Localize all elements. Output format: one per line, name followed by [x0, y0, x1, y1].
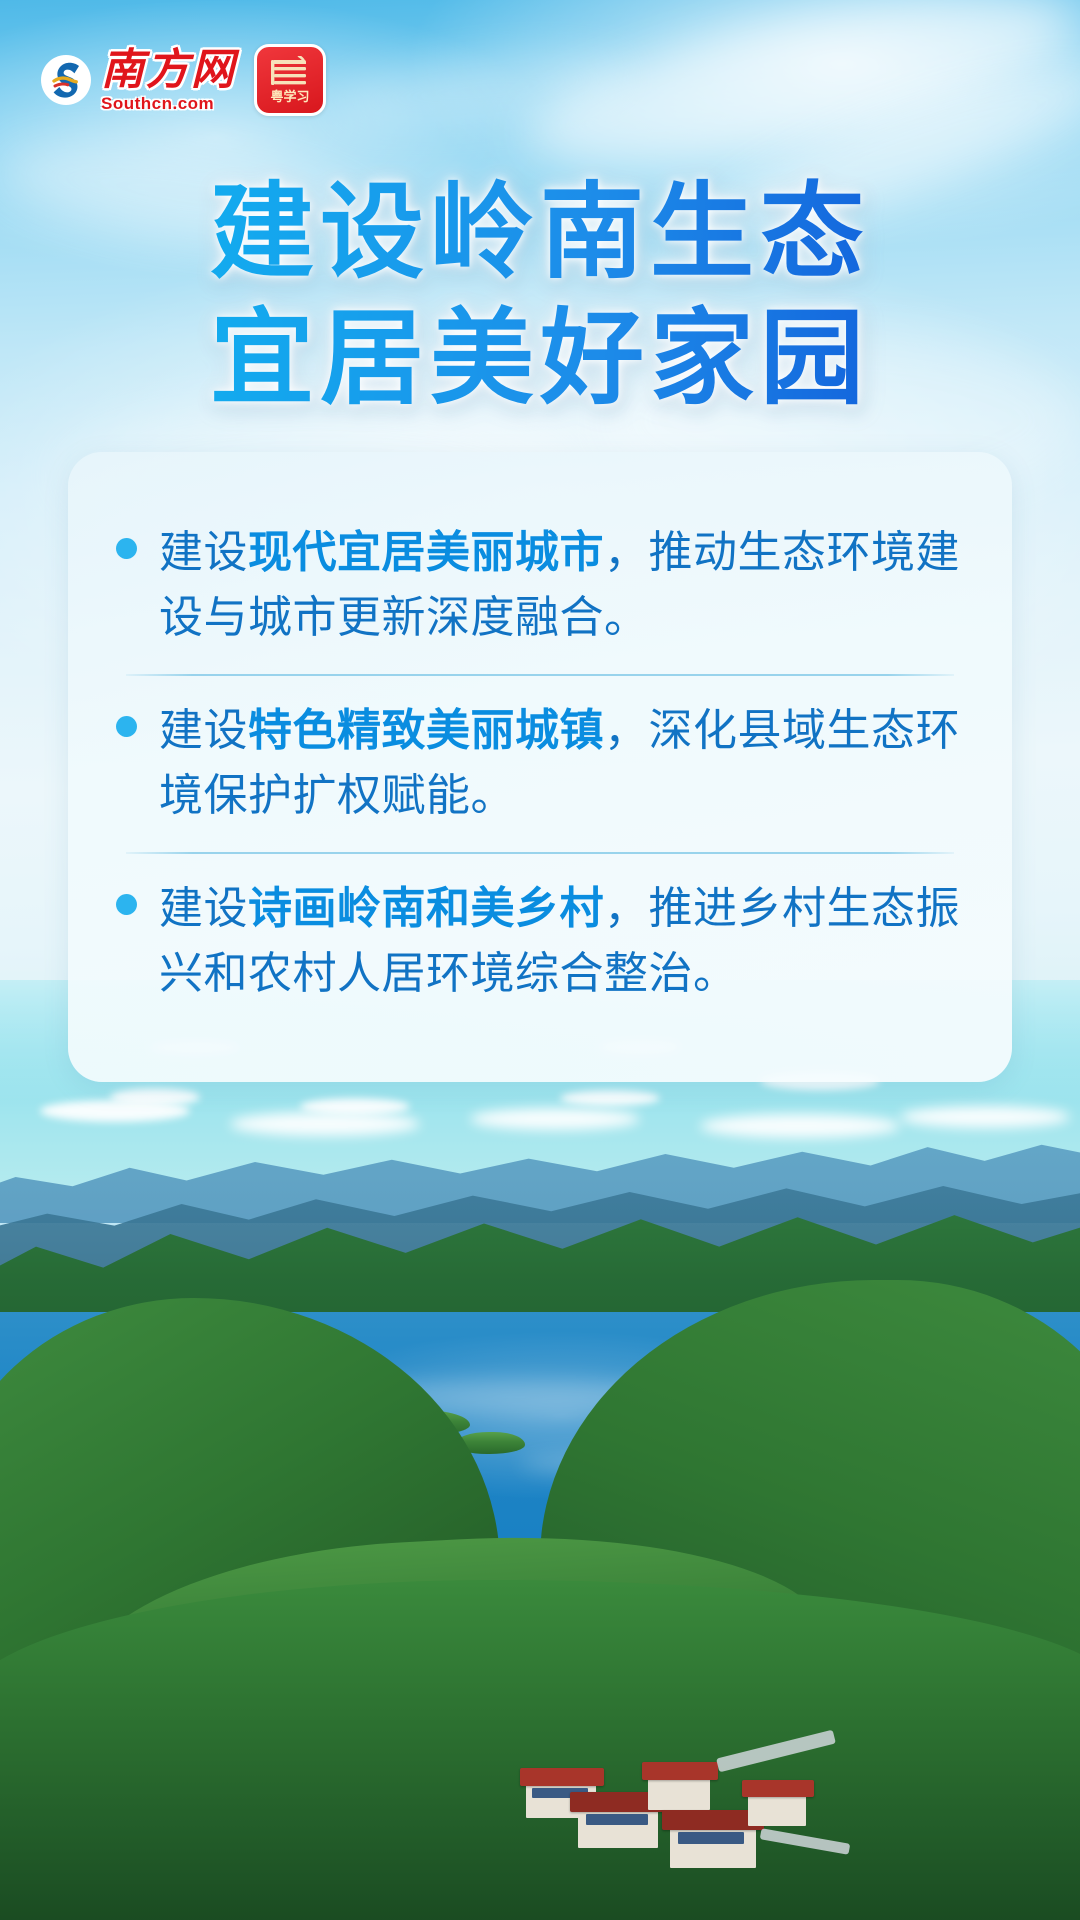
page-title: 建设岭南生态 宜居美好家园: [0, 172, 1080, 418]
item-lead: 建设: [159, 528, 248, 577]
list-item: 建设诗画岭南和美乡村，推进乡村生态振兴和农村人居环境综合整治。: [116, 858, 964, 1026]
key-points-card: 建设现代宜居美丽城市，推动生态环境建设与城市更新深度融合。 建设特色精致美丽城镇…: [68, 452, 1012, 1082]
building-wall: [748, 1794, 806, 1826]
photo-cloud: [110, 1088, 200, 1106]
photo-cloud: [230, 1112, 420, 1136]
bullet-dot-icon: [116, 894, 137, 915]
list-divider: [126, 674, 954, 676]
southcn-logo[interactable]: 南方网 Southcn.com: [38, 49, 236, 112]
bullet-dot-icon: [116, 538, 137, 559]
list-item: 建设现代宜居美丽城市，推动生态环境建设与城市更新深度融合。: [116, 502, 964, 670]
item-highlight: 现代宜居美丽城市: [248, 528, 604, 577]
village-road: [760, 1828, 851, 1854]
building-roof: [742, 1780, 814, 1797]
building-wall: [648, 1776, 710, 1810]
photo-cloud: [470, 1108, 640, 1130]
solar-panel: [678, 1832, 744, 1844]
yuexuexi-label: 粤学习: [270, 90, 309, 103]
item-lead: 建设: [159, 884, 248, 933]
southcn-name-cn: 南方网: [101, 49, 236, 92]
bullet-dot-icon: [116, 716, 137, 737]
title-line-1: 建设岭南生态: [0, 172, 1080, 292]
list-divider: [126, 852, 954, 854]
photo-cloud: [900, 1106, 1070, 1128]
item-highlight: 诗画岭南和美乡村: [248, 884, 604, 933]
photo-cloud: [300, 1098, 410, 1115]
building-roof: [520, 1768, 604, 1786]
photo-cloud: [560, 1090, 660, 1106]
southcn-wordmark: 南方网 Southcn.com: [101, 49, 236, 112]
title-line-2: 宜居美好家园: [0, 298, 1080, 418]
list-item-text: 建设现代宜居美丽城市，推动生态环境建设与城市更新深度融合。: [159, 520, 964, 650]
item-highlight: 特色精致美丽城镇: [248, 706, 604, 755]
yuexuexi-logo[interactable]: 粤学习: [254, 44, 326, 116]
logo-bar: 南方网 Southcn.com 粤学习: [38, 44, 326, 116]
list-item: 建设特色精致美丽城镇，深化县域生态环境保护扩权赋能。: [116, 680, 964, 848]
poster-root: 南方网 Southcn.com 粤学习 建设岭南生态 宜居美好家园: [0, 0, 1080, 1920]
item-lead: 建设: [159, 706, 248, 755]
photo-cloud: [700, 1114, 900, 1138]
yuexuexi-book-icon: [268, 56, 312, 88]
list-item-text: 建设诗画岭南和美乡村，推进乡村生态振兴和农村人居环境综合整治。: [159, 876, 964, 1006]
village-cluster: [520, 1740, 840, 1915]
solar-panel: [586, 1814, 648, 1825]
list-item-text: 建设特色精致美丽城镇，深化县域生态环境保护扩权赋能。: [159, 698, 964, 828]
southcn-s-mark-icon: [38, 52, 94, 108]
building-roof: [642, 1762, 718, 1780]
southcn-name-en: Southcn.com: [101, 95, 214, 112]
landscape-photo: [0, 980, 1080, 1920]
